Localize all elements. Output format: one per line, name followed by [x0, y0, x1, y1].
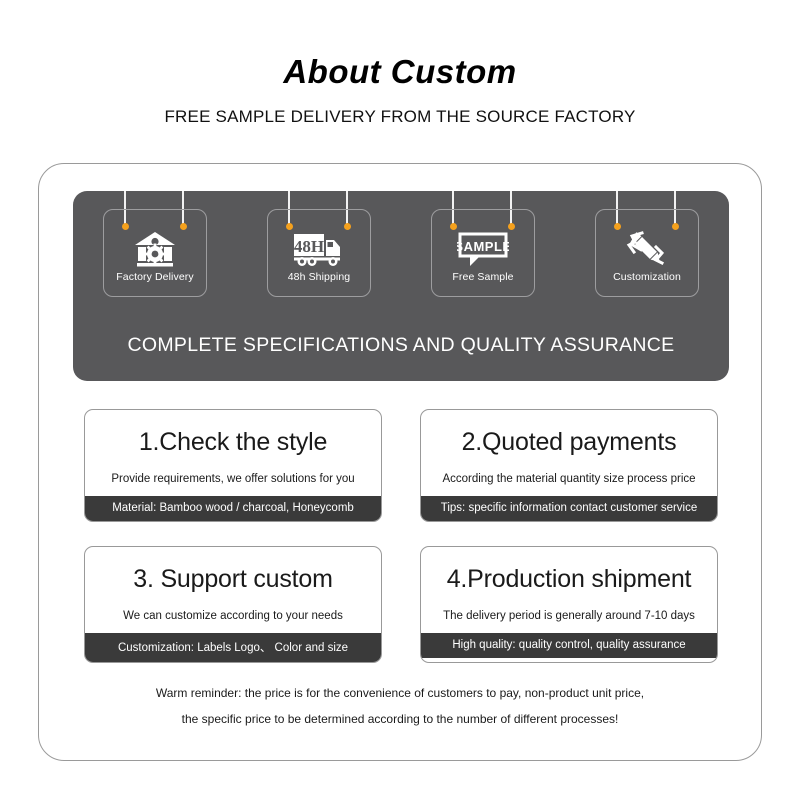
sign-dot-left-icon — [286, 223, 293, 230]
content-panel: Factory Delivery 48H — [38, 163, 762, 761]
step-card-1[interactable]: 1.Check the style Provide requirements, … — [84, 409, 382, 522]
sign-label: 48h Shipping — [288, 271, 351, 283]
step-footer: Tips: specific information contact custo… — [421, 496, 717, 521]
warm-reminder: Warm reminder: the price is for the conv… — [39, 680, 761, 733]
hanging-sign-48h-shipping[interactable]: 48H 48h Shipping — [267, 191, 371, 297]
step-description: The delivery period is generally around … — [421, 594, 717, 633]
step-card-4[interactable]: 4.Production shipment The delivery perio… — [420, 546, 718, 663]
svg-text:48H: 48H — [294, 237, 324, 256]
sign-dot-right-icon — [672, 223, 679, 230]
sign-dot-right-icon — [508, 223, 515, 230]
step-title: 4.Production shipment — [421, 547, 717, 594]
features-hero-panel: Factory Delivery 48H — [73, 191, 729, 381]
factory-building-gear-icon — [132, 230, 178, 268]
step-description: According the material quantity size pro… — [421, 457, 717, 496]
svg-text:SAMPLE: SAMPLE — [457, 239, 509, 254]
step-title: 3. Support custom — [85, 547, 381, 594]
warm-reminder-line-1: Warm reminder: the price is for the conv… — [39, 680, 761, 706]
sign-dot-right-icon — [180, 223, 187, 230]
hanging-sign-customization[interactable]: Customization — [595, 191, 699, 297]
sign-label: Customization — [613, 271, 681, 283]
step-footer: Material: Bamboo wood / charcoal, Honeyc… — [85, 496, 381, 521]
sign-dot-left-icon — [614, 223, 621, 230]
hanging-sign-free-sample[interactable]: SAMPLE Free Sample — [431, 191, 535, 297]
sign-dot-left-icon — [450, 223, 457, 230]
steps-grid: 1.Check the style Provide requirements, … — [84, 409, 718, 663]
page-title: About Custom — [0, 54, 800, 90]
sign-card: Customization — [595, 209, 699, 297]
step-footer: High quality: quality control, quality a… — [421, 633, 717, 658]
sign-label: Free Sample — [452, 271, 513, 283]
step-card-3[interactable]: 3. Support custom We can customize accor… — [84, 546, 382, 663]
sign-dot-left-icon — [122, 223, 129, 230]
sign-dot-right-icon — [344, 223, 351, 230]
sign-card: Factory Delivery — [103, 209, 207, 297]
page-subtitle: FREE SAMPLE DELIVERY FROM THE SOURCE FAC… — [0, 90, 800, 127]
hanging-signs-row: Factory Delivery 48H — [73, 191, 729, 316]
step-title: 1.Check the style — [85, 410, 381, 457]
step-description: We can customize according to your needs — [85, 594, 381, 633]
sign-label: Factory Delivery — [116, 271, 193, 283]
step-card-2[interactable]: 2.Quoted payments According the material… — [420, 409, 718, 522]
step-footer: Customization: Labels Logo、 Color and si… — [85, 633, 381, 662]
sign-card: 48H 48h Shipping — [267, 209, 371, 297]
hanging-sign-factory-delivery[interactable]: Factory Delivery — [103, 191, 207, 297]
step-description: Provide requirements, we offer solutions… — [85, 457, 381, 496]
page-header: About Custom FREE SAMPLE DELIVERY FROM T… — [0, 0, 800, 127]
delivery-truck-48h-icon: 48H — [293, 230, 345, 268]
pencil-customization-icon — [626, 230, 668, 268]
warm-reminder-line-2: the specific price to be determined acco… — [39, 706, 761, 732]
sample-speech-bubble-icon: SAMPLE — [457, 230, 509, 268]
sign-card: SAMPLE Free Sample — [431, 209, 535, 297]
step-title: 2.Quoted payments — [421, 410, 717, 457]
hero-banner-text: COMPLETE SPECIFICATIONS AND QUALITY ASSU… — [73, 334, 729, 357]
